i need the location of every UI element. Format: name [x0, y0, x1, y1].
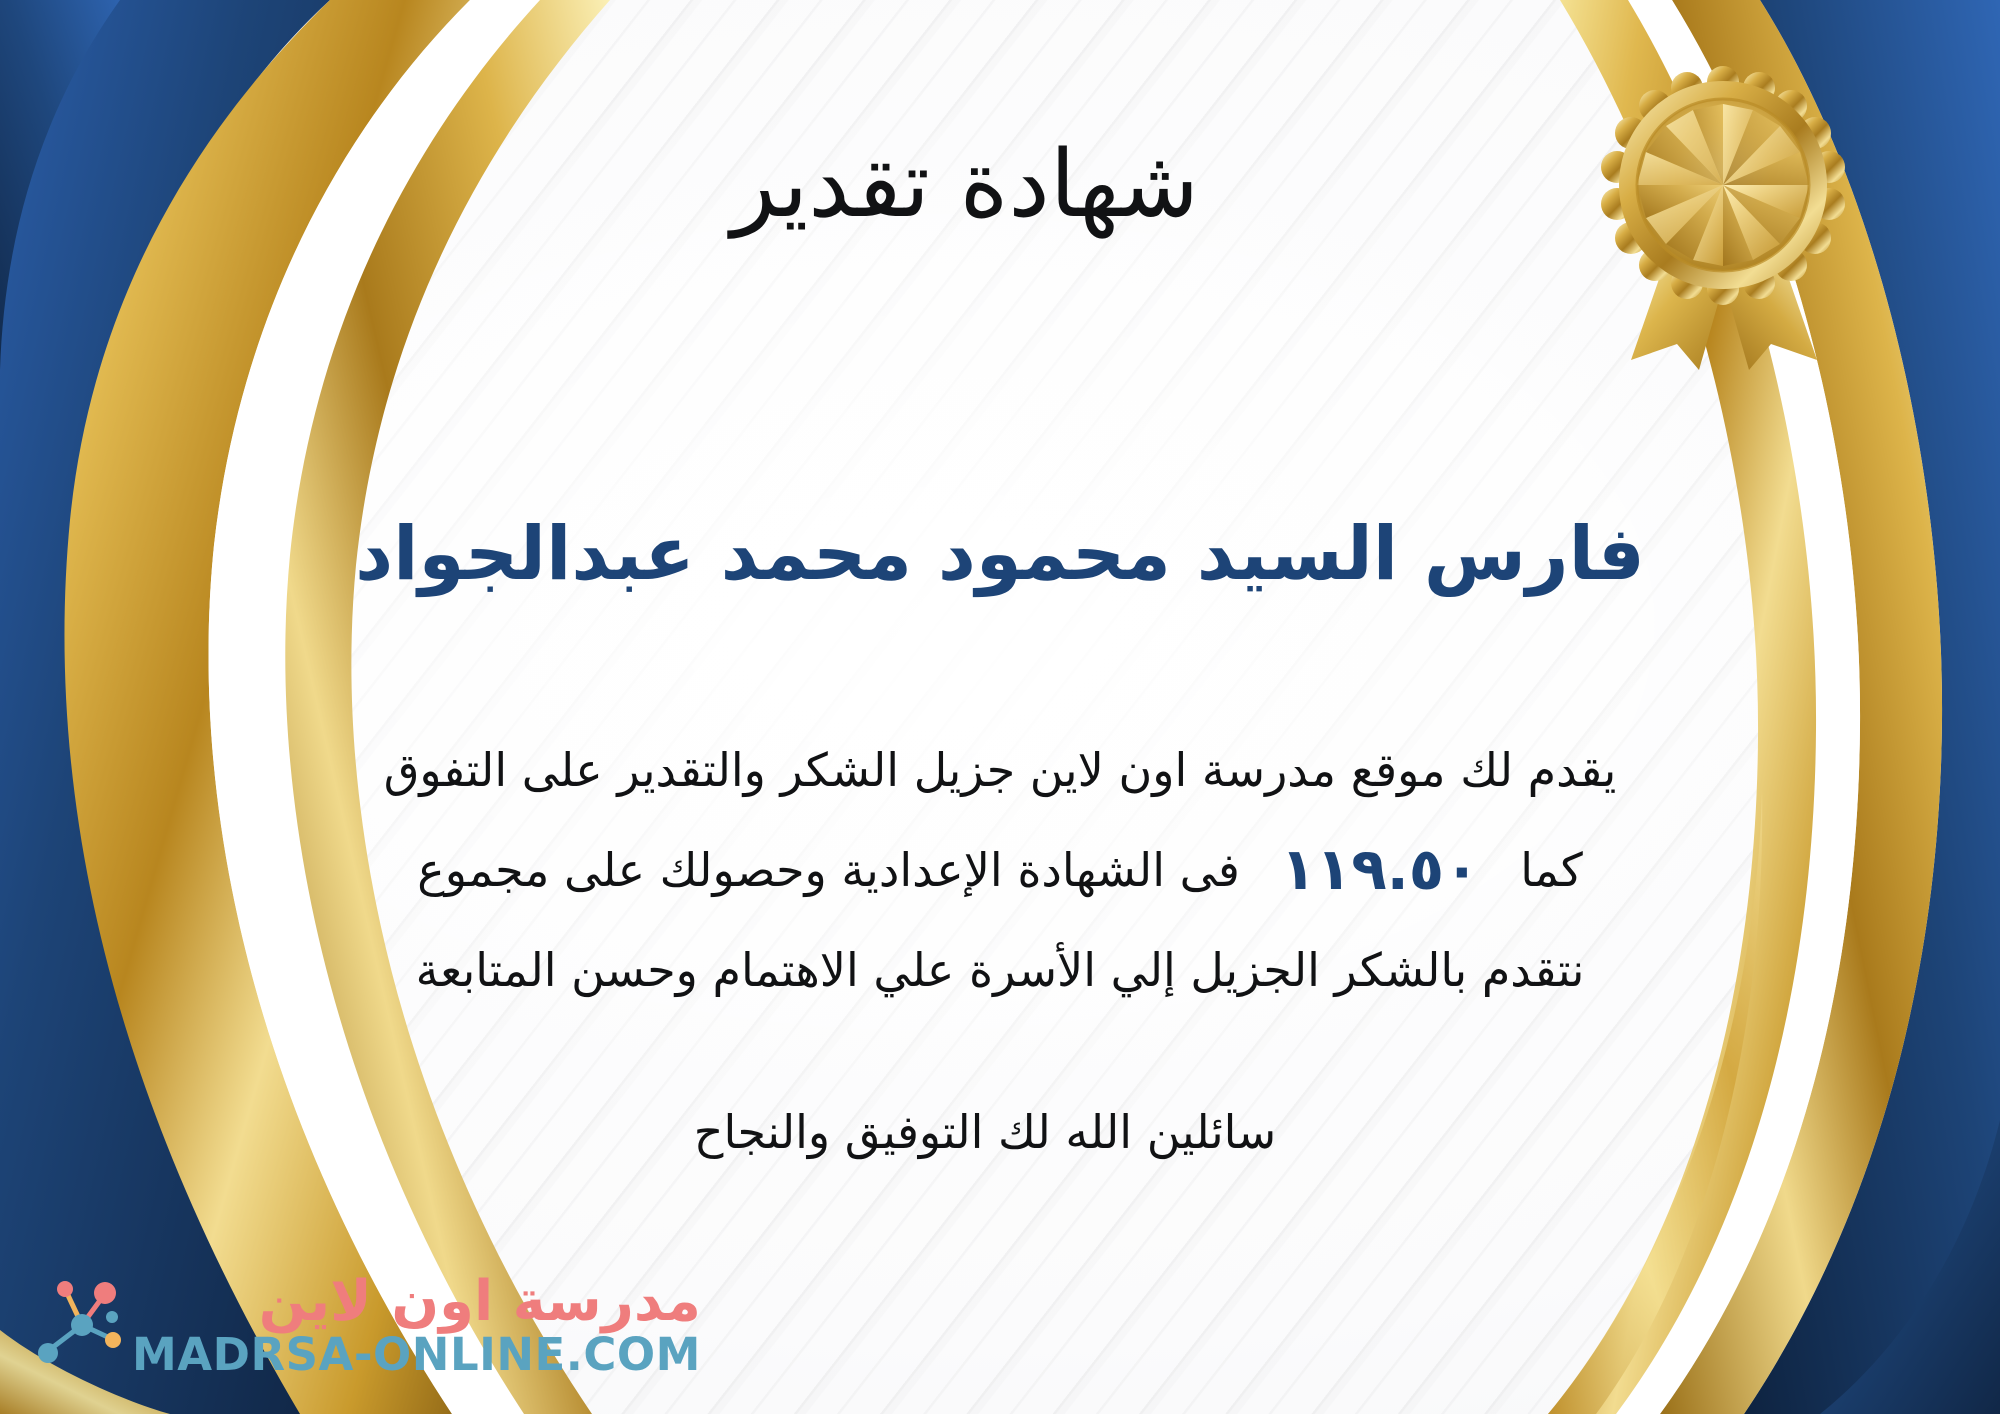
body-line-2-before: فى الشهادة الإعدادية وحصولك على مجموع: [417, 843, 1240, 897]
body-line-1: يقدم لك موقع مدرسة اون لاين جزيل الشكر و…: [170, 726, 1830, 814]
certificate-body: يقدم لك موقع مدرسة اون لاين جزيل الشكر و…: [170, 726, 1830, 1014]
closing-line: سائلين الله لك التوفيق والنجاح: [210, 1105, 1790, 1159]
body-line-2-after: كما: [1520, 843, 1583, 897]
brand-logo[interactable]: مدرسة اون لاين MADRSA-ONLINE.COM: [26, 1273, 701, 1378]
recipient-name: فارس السيد محمود محمد عبدالجواد: [210, 516, 1790, 594]
brand-url: MADRSA-ONLINE.COM: [132, 1331, 701, 1378]
network-nodes-icon: [26, 1273, 122, 1377]
brand-name-arabic: مدرسة اون لاين: [259, 1273, 701, 1331]
body-line-3: نتقدم بالشكر الجزيل إلي الأسرة علي الاهت…: [170, 926, 1830, 1014]
certificate-content: شهادة تقدير فارس السيد محمود محمد عبدالج…: [210, 0, 1790, 1414]
score-value: ١١٩.٥٠: [1255, 835, 1506, 903]
body-line-2: كما ١١٩.٥٠ فى الشهادة الإعدادية وحصولك ع…: [170, 814, 1830, 925]
brand-text: مدرسة اون لاين MADRSA-ONLINE.COM: [132, 1273, 701, 1378]
certificate-canvas: شهادة تقدير فارس السيد محمود محمد عبدالج…: [0, 0, 2000, 1414]
certificate-title: شهادة تقدير: [210, 138, 1790, 231]
